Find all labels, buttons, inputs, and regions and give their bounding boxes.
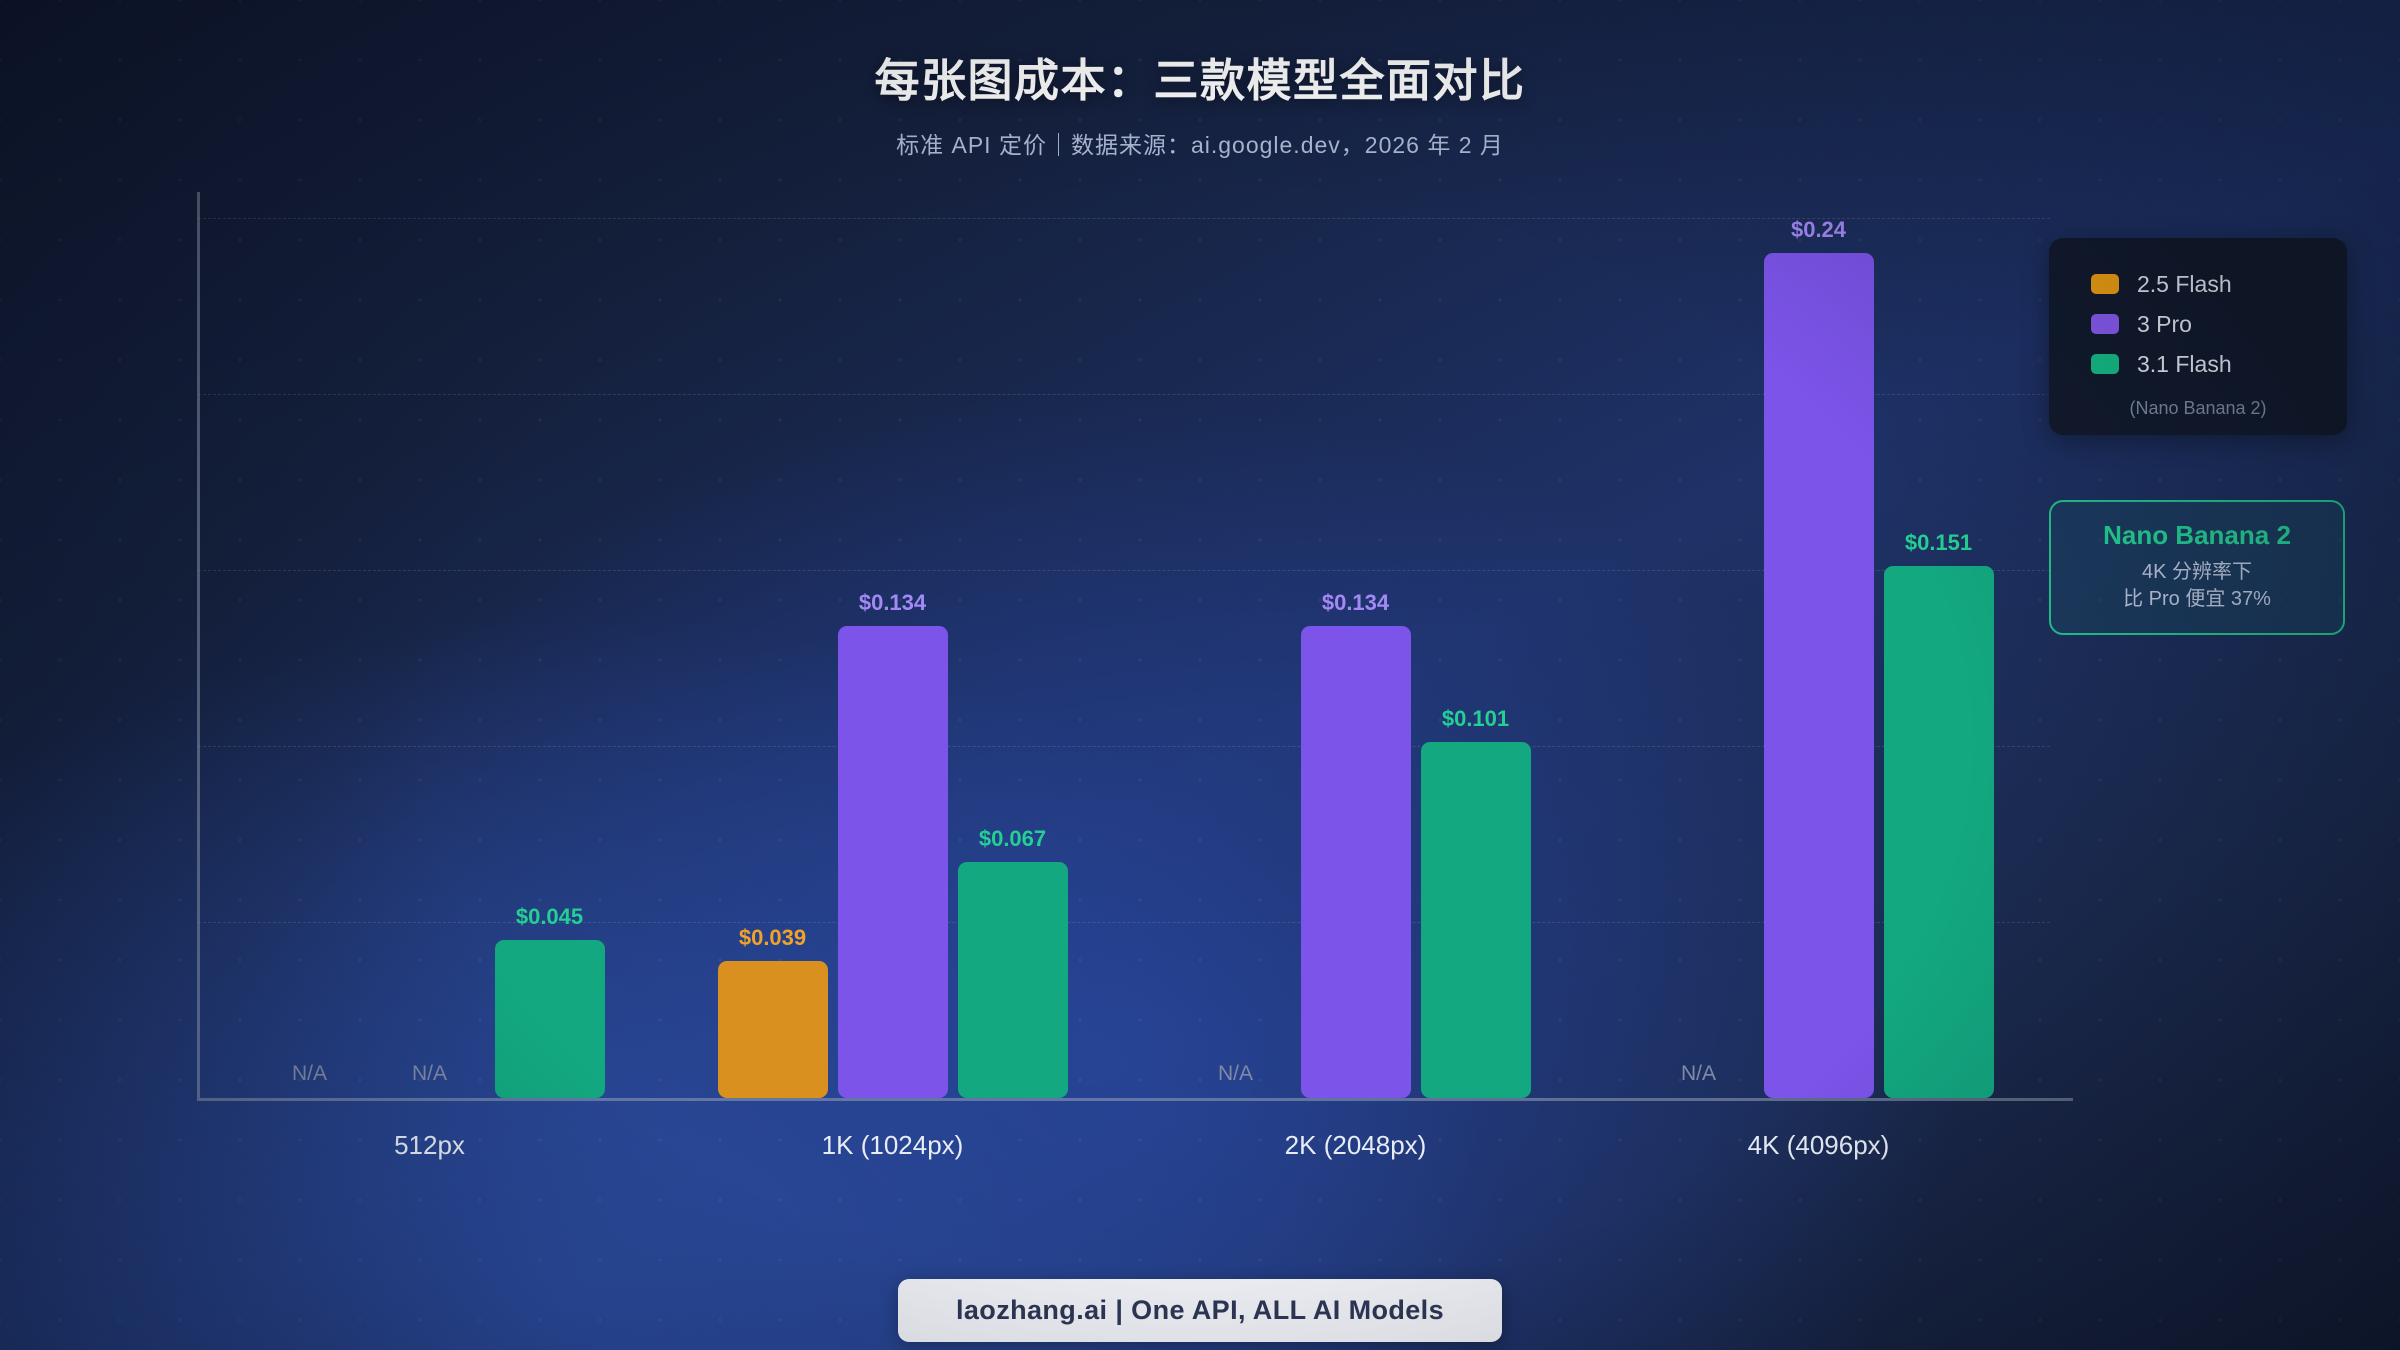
- x-axis-group-label: 512px: [394, 1130, 465, 1161]
- bar-group: N/A$0.24$0.151: [1587, 218, 2050, 1098]
- bar-value-label: $0.067: [979, 826, 1046, 852]
- page-title: 每张图成本：三款模型全面对比: [0, 44, 2400, 109]
- legend-item-label: 3 Pro: [2137, 311, 2192, 338]
- bar-value-label: $0.101: [1442, 706, 1509, 732]
- bar[interactable]: [495, 940, 605, 1098]
- x-axis-group-label: 1K (1024px): [822, 1130, 964, 1161]
- bar-value-label: $0.151: [1905, 530, 1972, 556]
- bar-group: N/AN/A$0.045: [198, 218, 661, 1098]
- bar-value-label: $0.039: [739, 925, 806, 951]
- legend-item-label: 2.5 Flash: [2137, 271, 2232, 298]
- legend-color-swatch-icon: [2091, 274, 2119, 294]
- bar-slot: N/A: [1181, 218, 1291, 1098]
- legend-note: (Nano Banana 2): [2049, 398, 2347, 419]
- bar-na-label: N/A: [292, 1062, 327, 1086]
- annotation-title: Nano Banana 2: [2061, 520, 2333, 551]
- bar-na-label: N/A: [1681, 1062, 1716, 1086]
- bar-value-label: $0.045: [516, 904, 583, 930]
- x-axis-line: [197, 1098, 2073, 1101]
- bar-slot: $0.045: [495, 218, 605, 1098]
- bar[interactable]: [1301, 626, 1411, 1098]
- bar-slot: N/A: [1644, 218, 1754, 1098]
- x-axis-group-label: 2K (2048px): [1285, 1130, 1427, 1161]
- bar-value-label: $0.24: [1791, 217, 1846, 243]
- bar[interactable]: [1764, 253, 1874, 1098]
- plot-area: $0$0.05$0.10$0.15$0.20$0.25 N/AN/A$0.045…: [198, 218, 2050, 1098]
- bar-slot: N/A: [255, 218, 365, 1098]
- footer-brand-badge: laozhang.ai | One API, ALL AI Models: [898, 1279, 1502, 1342]
- bar-slot: $0.039: [718, 218, 828, 1098]
- bar-na-label: N/A: [412, 1062, 447, 1086]
- bar-slot: N/A: [375, 218, 485, 1098]
- bar[interactable]: [958, 862, 1068, 1098]
- bar-slot: $0.101: [1421, 218, 1531, 1098]
- page-subtitle: 标准 API 定价｜数据来源：ai.google.dev，2026 年 2 月: [0, 126, 2400, 160]
- bar-value-label: $0.134: [859, 590, 926, 616]
- legend: 2.5 Flash3 Pro3.1 Flash (Nano Banana 2): [2049, 238, 2347, 435]
- legend-item-label: 3.1 Flash: [2137, 351, 2232, 378]
- bar-na-label: N/A: [1218, 1062, 1253, 1086]
- bar-slot: $0.134: [1301, 218, 1411, 1098]
- bar-slot: $0.067: [958, 218, 1068, 1098]
- chart-canvas: 每张图成本：三款模型全面对比 标准 API 定价｜数据来源：ai.google.…: [0, 0, 2400, 1350]
- legend-rows: 2.5 Flash3 Pro3.1 Flash: [2049, 264, 2347, 384]
- bar-value-label: $0.134: [1322, 590, 1389, 616]
- legend-color-swatch-icon: [2091, 354, 2119, 374]
- bar-group: $0.039$0.134$0.067: [661, 218, 1124, 1098]
- legend-item[interactable]: 2.5 Flash: [2049, 264, 2347, 304]
- bar-slot: $0.151: [1884, 218, 1994, 1098]
- bar-group: N/A$0.134$0.101: [1124, 218, 1587, 1098]
- annotation-line-2: 比 Pro 便宜 37%: [2061, 586, 2333, 613]
- bar[interactable]: [838, 626, 948, 1098]
- bar-slot: $0.134: [838, 218, 948, 1098]
- legend-item[interactable]: 3.1 Flash: [2049, 344, 2347, 384]
- bar-slot: $0.24: [1764, 218, 1874, 1098]
- bar[interactable]: [718, 961, 828, 1098]
- legend-item[interactable]: 3 Pro: [2049, 304, 2347, 344]
- bar[interactable]: [1884, 566, 1994, 1098]
- bar[interactable]: [1421, 742, 1531, 1098]
- x-axis-group-label: 4K (4096px): [1748, 1130, 1890, 1161]
- annotation-line-1: 4K 分辨率下: [2061, 559, 2333, 586]
- legend-color-swatch-icon: [2091, 314, 2119, 334]
- annotation-callout: Nano Banana 2 4K 分辨率下 比 Pro 便宜 37%: [2049, 500, 2345, 635]
